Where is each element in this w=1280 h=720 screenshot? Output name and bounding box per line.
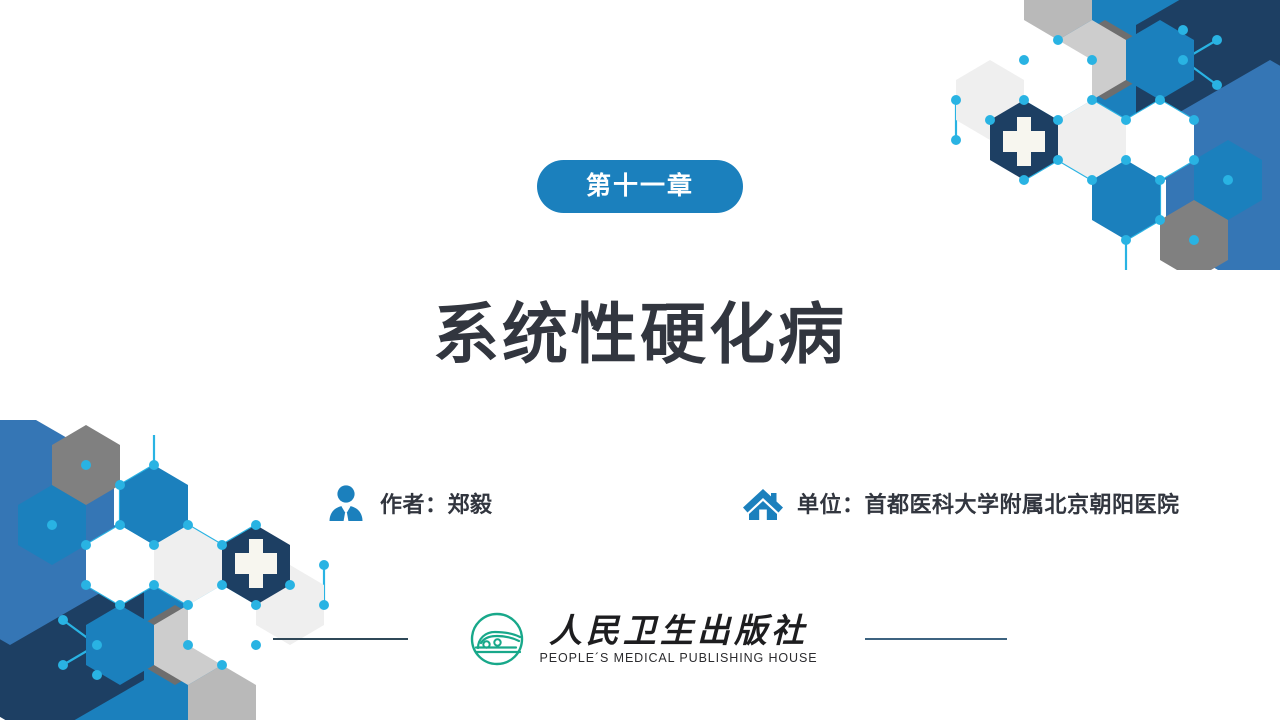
person-icon bbox=[325, 482, 367, 524]
hexagon-cluster-icon bbox=[0, 420, 340, 720]
hexagon-cluster-icon bbox=[940, 0, 1280, 270]
publisher-name-en: PEOPLE´S MEDICAL PUBLISHING HOUSE bbox=[540, 652, 818, 665]
divider-right bbox=[865, 638, 1007, 640]
publisher-name-cn: 人民卫生出版社 bbox=[549, 614, 808, 649]
byline-author-text: 作者：郑毅 bbox=[380, 487, 493, 519]
presentation-slide: 第十一章 系统性硬化病 作者：郑毅 单位：首都医科大学附属北京朝阳医院 bbox=[0, 0, 1280, 720]
chapter-badge-label: 第十一章 bbox=[586, 174, 694, 199]
publisher-names: 人民卫生出版社 PEOPLE´S MEDICAL PUBLISHING HOUS… bbox=[540, 614, 818, 664]
byline-author: 作者：郑毅 bbox=[325, 478, 493, 528]
publisher-logo: 人民卫生出版社 PEOPLE´S MEDICAL PUBLISHING HOUS… bbox=[466, 608, 818, 670]
publisher-emblem-icon bbox=[466, 608, 528, 670]
house-icon bbox=[742, 482, 784, 524]
chapter-badge: 第十一章 bbox=[537, 160, 743, 213]
page-title: 系统性硬化病 bbox=[0, 297, 1280, 373]
footer: 人民卫生出版社 PEOPLE´S MEDICAL PUBLISHING HOUS… bbox=[0, 604, 1280, 674]
divider-left bbox=[273, 638, 408, 640]
byline-affiliation-text: 单位：首都医科大学附属北京朝阳医院 bbox=[797, 487, 1180, 519]
byline-affiliation: 单位：首都医科大学附属北京朝阳医院 bbox=[742, 478, 1180, 528]
byline: 作者：郑毅 单位：首都医科大学附属北京朝阳医院 bbox=[0, 478, 1280, 528]
